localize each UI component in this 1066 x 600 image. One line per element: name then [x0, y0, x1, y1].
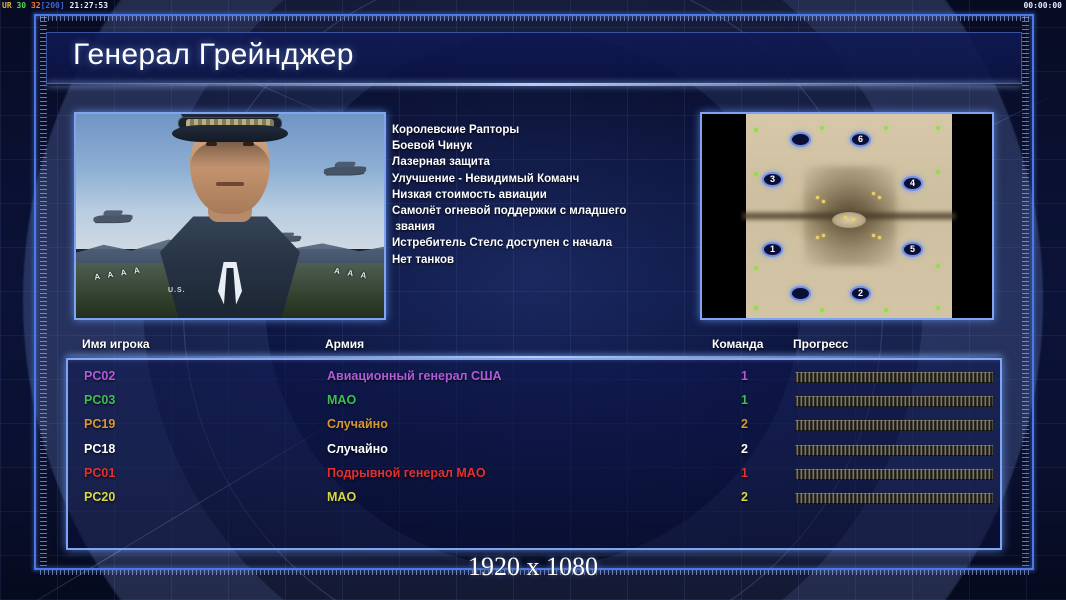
player-team: 1 [741, 393, 748, 407]
player-progress-bar [795, 493, 993, 504]
map-spawn-marker: 1 [762, 242, 783, 257]
player-name: PC02 [84, 369, 115, 383]
page-title: Генерал Грейнджер [73, 38, 354, 72]
map-resource-marker [936, 126, 940, 130]
ability-item: Лазерная защита [392, 154, 690, 170]
header-underline [66, 356, 1002, 358]
aircraft-icon [93, 215, 132, 223]
status-clock-left: 21:27:53 [70, 1, 109, 10]
map-supply-marker [816, 196, 819, 199]
table-row[interactable]: PC20MAO2 [68, 487, 1000, 511]
column-header-army: Армия [325, 337, 364, 351]
table-row[interactable]: PC18Случайно2 [68, 439, 1000, 463]
map-resource-marker [754, 306, 758, 310]
player-table-header: Имя игрока Армия Команда Прогресс [66, 336, 1002, 356]
player-army: Подрывной генерал MAO [327, 466, 486, 480]
map-resource-marker [884, 126, 888, 130]
player-team: 1 [741, 466, 748, 480]
ability-item: Улучшение - Невидимый Команч [392, 171, 690, 187]
title-panel: Генерал Грейнджер [46, 32, 1022, 84]
map-resource-marker [820, 126, 824, 130]
player-team: 2 [741, 490, 748, 504]
ability-item: Боевой Чинук [392, 138, 690, 154]
map-resource-marker [754, 172, 758, 176]
map-supply-marker [844, 216, 847, 219]
map-supply-marker [878, 196, 881, 199]
map-resource-marker [936, 306, 940, 310]
map-supply-marker [816, 236, 819, 239]
map-spawn-marker: 6 [850, 132, 871, 147]
resolution-label: 1920 x 1080 [0, 552, 1066, 582]
map-supply-marker [878, 236, 881, 239]
map-spawn-marker: 4 [902, 176, 923, 191]
status-value-2: 32 [31, 1, 41, 10]
table-row[interactable]: PC19Случайно2 [68, 414, 1000, 438]
map-resource-marker [936, 264, 940, 268]
map-supply-marker [852, 218, 855, 221]
map-resource-marker [754, 128, 758, 132]
player-name: PC20 [84, 490, 115, 504]
player-table: PC02Авиационный генерал США1PC03MAO1PC19… [66, 358, 1002, 550]
map-preview: 341562 [700, 112, 994, 320]
map-resource-marker [820, 308, 824, 312]
map-spawn-marker: 3 [762, 172, 783, 187]
status-label-ur: UR [2, 1, 12, 10]
player-team: 2 [741, 417, 748, 431]
map-center-clearing [832, 212, 866, 228]
player-army: Случайно [327, 442, 388, 456]
column-header-team: Команда [712, 337, 763, 351]
player-progress-bar [795, 445, 993, 456]
player-name: PC19 [84, 417, 115, 431]
status-bar: UR 30 32[200] 21:27:53 00:00:00 [0, 0, 1066, 12]
portrait-eye-right [243, 142, 254, 146]
player-team: 2 [741, 442, 748, 456]
map-spawn-marker [790, 286, 811, 301]
player-team: 1 [741, 369, 748, 383]
table-row[interactable]: PC03MAO1 [68, 390, 1000, 414]
player-army: Случайно [327, 417, 388, 431]
map-spawn-marker [790, 132, 811, 147]
map-resource-marker [884, 308, 888, 312]
status-value-1: 30 [16, 1, 26, 10]
map-terrain: 341562 [746, 114, 952, 318]
table-row[interactable]: PC02Авиационный генерал США1 [68, 366, 1000, 390]
map-resource-marker [936, 170, 940, 174]
player-name: PC18 [84, 442, 115, 456]
ability-item: Истребитель Стелс доступен с начала [392, 235, 690, 251]
portrait-face-shadow [190, 142, 270, 168]
column-header-progress: Прогресс [793, 337, 848, 351]
general-portrait: A A A A A A A U.S. [74, 112, 386, 320]
table-row[interactable]: PC01Подрывной генерал MAO1 [68, 463, 1000, 487]
portrait-cap-brim [172, 125, 288, 142]
aircraft-icon [324, 166, 366, 174]
player-progress-bar [795, 420, 993, 431]
ability-item: Королевские Рапторы [392, 122, 690, 138]
title-underline [47, 83, 1021, 86]
service-tag: U.S. [168, 287, 186, 294]
map-spawn-marker: 2 [850, 286, 871, 301]
player-name: PC03 [84, 393, 115, 407]
map-supply-marker [872, 192, 875, 195]
column-header-name: Имя игрока [82, 337, 150, 351]
status-bracket: [200] [41, 1, 65, 10]
ability-item: Низкая стоимость авиации [392, 187, 690, 203]
status-bar-left: UR 30 32[200] 21:27:53 [2, 0, 108, 12]
status-clock-right: 00:00:00 [1023, 0, 1062, 12]
general-abilities-list: Королевские РапторыБоевой ЧинукЛазерная … [392, 122, 690, 268]
map-supply-marker [822, 200, 825, 203]
player-progress-bar [795, 396, 993, 407]
map-supply-marker [872, 234, 875, 237]
portrait-eye-left [206, 142, 217, 146]
ability-item: Нет танков [392, 252, 690, 268]
player-name: PC01 [84, 466, 115, 480]
player-army: MAO [327, 490, 356, 504]
map-spawn-marker: 5 [902, 242, 923, 257]
player-progress-bar [795, 469, 993, 480]
portrait-mouth [216, 182, 244, 186]
ability-item: Самолёт огневой поддержки с младшего зва… [392, 203, 690, 235]
general-info-row: A A A A A A A U.S. Королевские РапторыБо… [66, 108, 1002, 326]
map-supply-marker [822, 234, 825, 237]
map-resource-marker [754, 266, 758, 270]
player-army: Авиационный генерал США [327, 369, 502, 383]
portrait-artwork: A A A A A A A U.S. [76, 114, 384, 318]
player-army: MAO [327, 393, 356, 407]
player-progress-bar [795, 372, 993, 383]
